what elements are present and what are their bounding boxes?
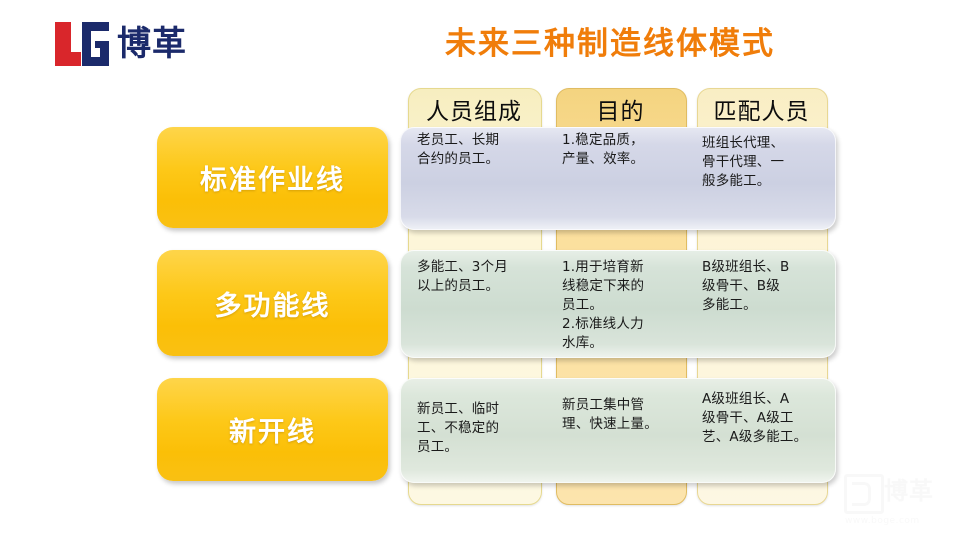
cell-r1-c1: 老员工、长期 合约的员工。: [417, 131, 535, 169]
watermark-logo-icon: [844, 474, 884, 514]
row-label-standard-line[interactable]: 标准作业线: [157, 127, 388, 228]
page-title: 未来三种制造线体模式: [330, 22, 890, 66]
cell-r1-c2: 1.稳定品质， 产量、效率。: [562, 131, 680, 169]
watermark-url: www.boge.com: [845, 516, 920, 526]
cell-r2-c2: 1.用于培育新 线稳定下来的 员工。 2.标准线人力 水库。: [562, 258, 680, 353]
bg-logo-icon: [55, 22, 109, 66]
cell-r2-c1: 多能工、3个月 以上的员工。: [417, 258, 535, 296]
watermark: 博革 www.boge.com: [844, 472, 950, 526]
cell-r3-c2: 新员工集中管 理、快速上量。: [562, 396, 680, 434]
column-header-personnel: 人员组成: [408, 88, 540, 130]
cell-r3-c1: 新员工、临时 工、不稳定的 员工。: [417, 400, 535, 457]
slide-canvas: 博革 未来三种制造线体模式 人员组成 目的 匹配人员 标准作业线 多功能线 新开…: [0, 0, 960, 540]
watermark-text: 博革: [884, 476, 934, 506]
row-label-new-line[interactable]: 新开线: [157, 378, 388, 481]
column-header-purpose: 目的: [556, 88, 685, 130]
brand-logo-text: 博革: [117, 22, 187, 66]
brand-logo: 博革: [55, 18, 225, 70]
cell-r3-c3: A级班组长、A 级骨干、A级工 艺、A级多能工。: [702, 390, 824, 447]
row-label-multifunction-line[interactable]: 多功能线: [157, 250, 388, 356]
column-header-matching: 匹配人员: [697, 88, 826, 130]
cell-r1-c3: 班组长代理、 骨干代理、一 般多能工。: [702, 134, 824, 191]
cell-r2-c3: B级班组长、B 级骨干、B级 多能工。: [702, 258, 824, 315]
